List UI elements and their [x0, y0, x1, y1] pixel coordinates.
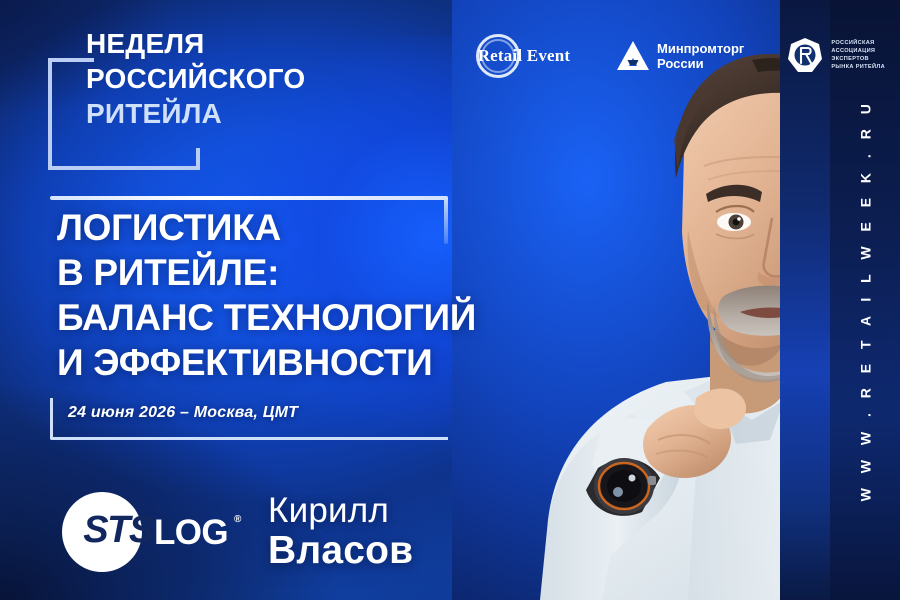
site-url[interactable]: W W W . R E T A I L W E E K . R U: [836, 0, 894, 600]
company-logo-stslog: STS LOG ®: [62, 492, 252, 572]
event-logo-line-1: НЕДЕЛЯ: [86, 30, 286, 58]
minpromtorg-label-line-2: России: [657, 56, 744, 71]
promo-banner: НЕДЕЛЯ РОССИЙСКОГО РИТЕЙЛА Retail Event: [0, 0, 900, 600]
site-url-text: W W W . R E T A I L W E E K . R U: [857, 99, 873, 502]
event-logo-line-3: РИТЕЙЛА: [86, 100, 286, 128]
partner-logos: Retail Event Минпромторг России: [470, 28, 885, 84]
event-logo-bracket-stub: [196, 148, 200, 170]
date-location: 24 июня 2026 – Москва, ЦМТ: [68, 404, 298, 422]
title-bracket-top: [50, 196, 448, 200]
speaker-name: Кирилл Власов: [268, 492, 468, 572]
page-title: ЛОГИСТИКА В РИТЕЙЛЕ: БАЛАНС ТЕХНОЛОГИЙ И…: [57, 205, 537, 386]
speaker-first-name: Кирилл: [268, 492, 468, 530]
retail-event-icon: Retail Event: [470, 31, 574, 81]
minpromtorg-label: Минпромторг России: [657, 41, 744, 72]
minpromtorg-icon: [616, 40, 650, 72]
partner-retail-event: Retail Event: [470, 31, 574, 81]
event-logo-line-2: РОССИЙСКОГО: [86, 65, 286, 93]
retail-event-label: Retail Event: [478, 46, 571, 66]
raer-icon: [786, 37, 824, 75]
minpromtorg-label-line-1: Минпромторг: [657, 41, 744, 56]
event-logo-text: НЕДЕЛЯ РОССИЙСКОГО РИТЕЙЛА: [86, 30, 286, 128]
event-logo: НЕДЕЛЯ РОССИЙСКОГО РИТЕЙЛА: [48, 30, 268, 170]
partner-minpromtorg: Минпромторг России: [616, 40, 744, 72]
stslog-word: LOG: [154, 513, 228, 553]
stslog-registered-mark: ®: [234, 514, 241, 525]
speaker-last-name: Власов: [268, 530, 468, 572]
